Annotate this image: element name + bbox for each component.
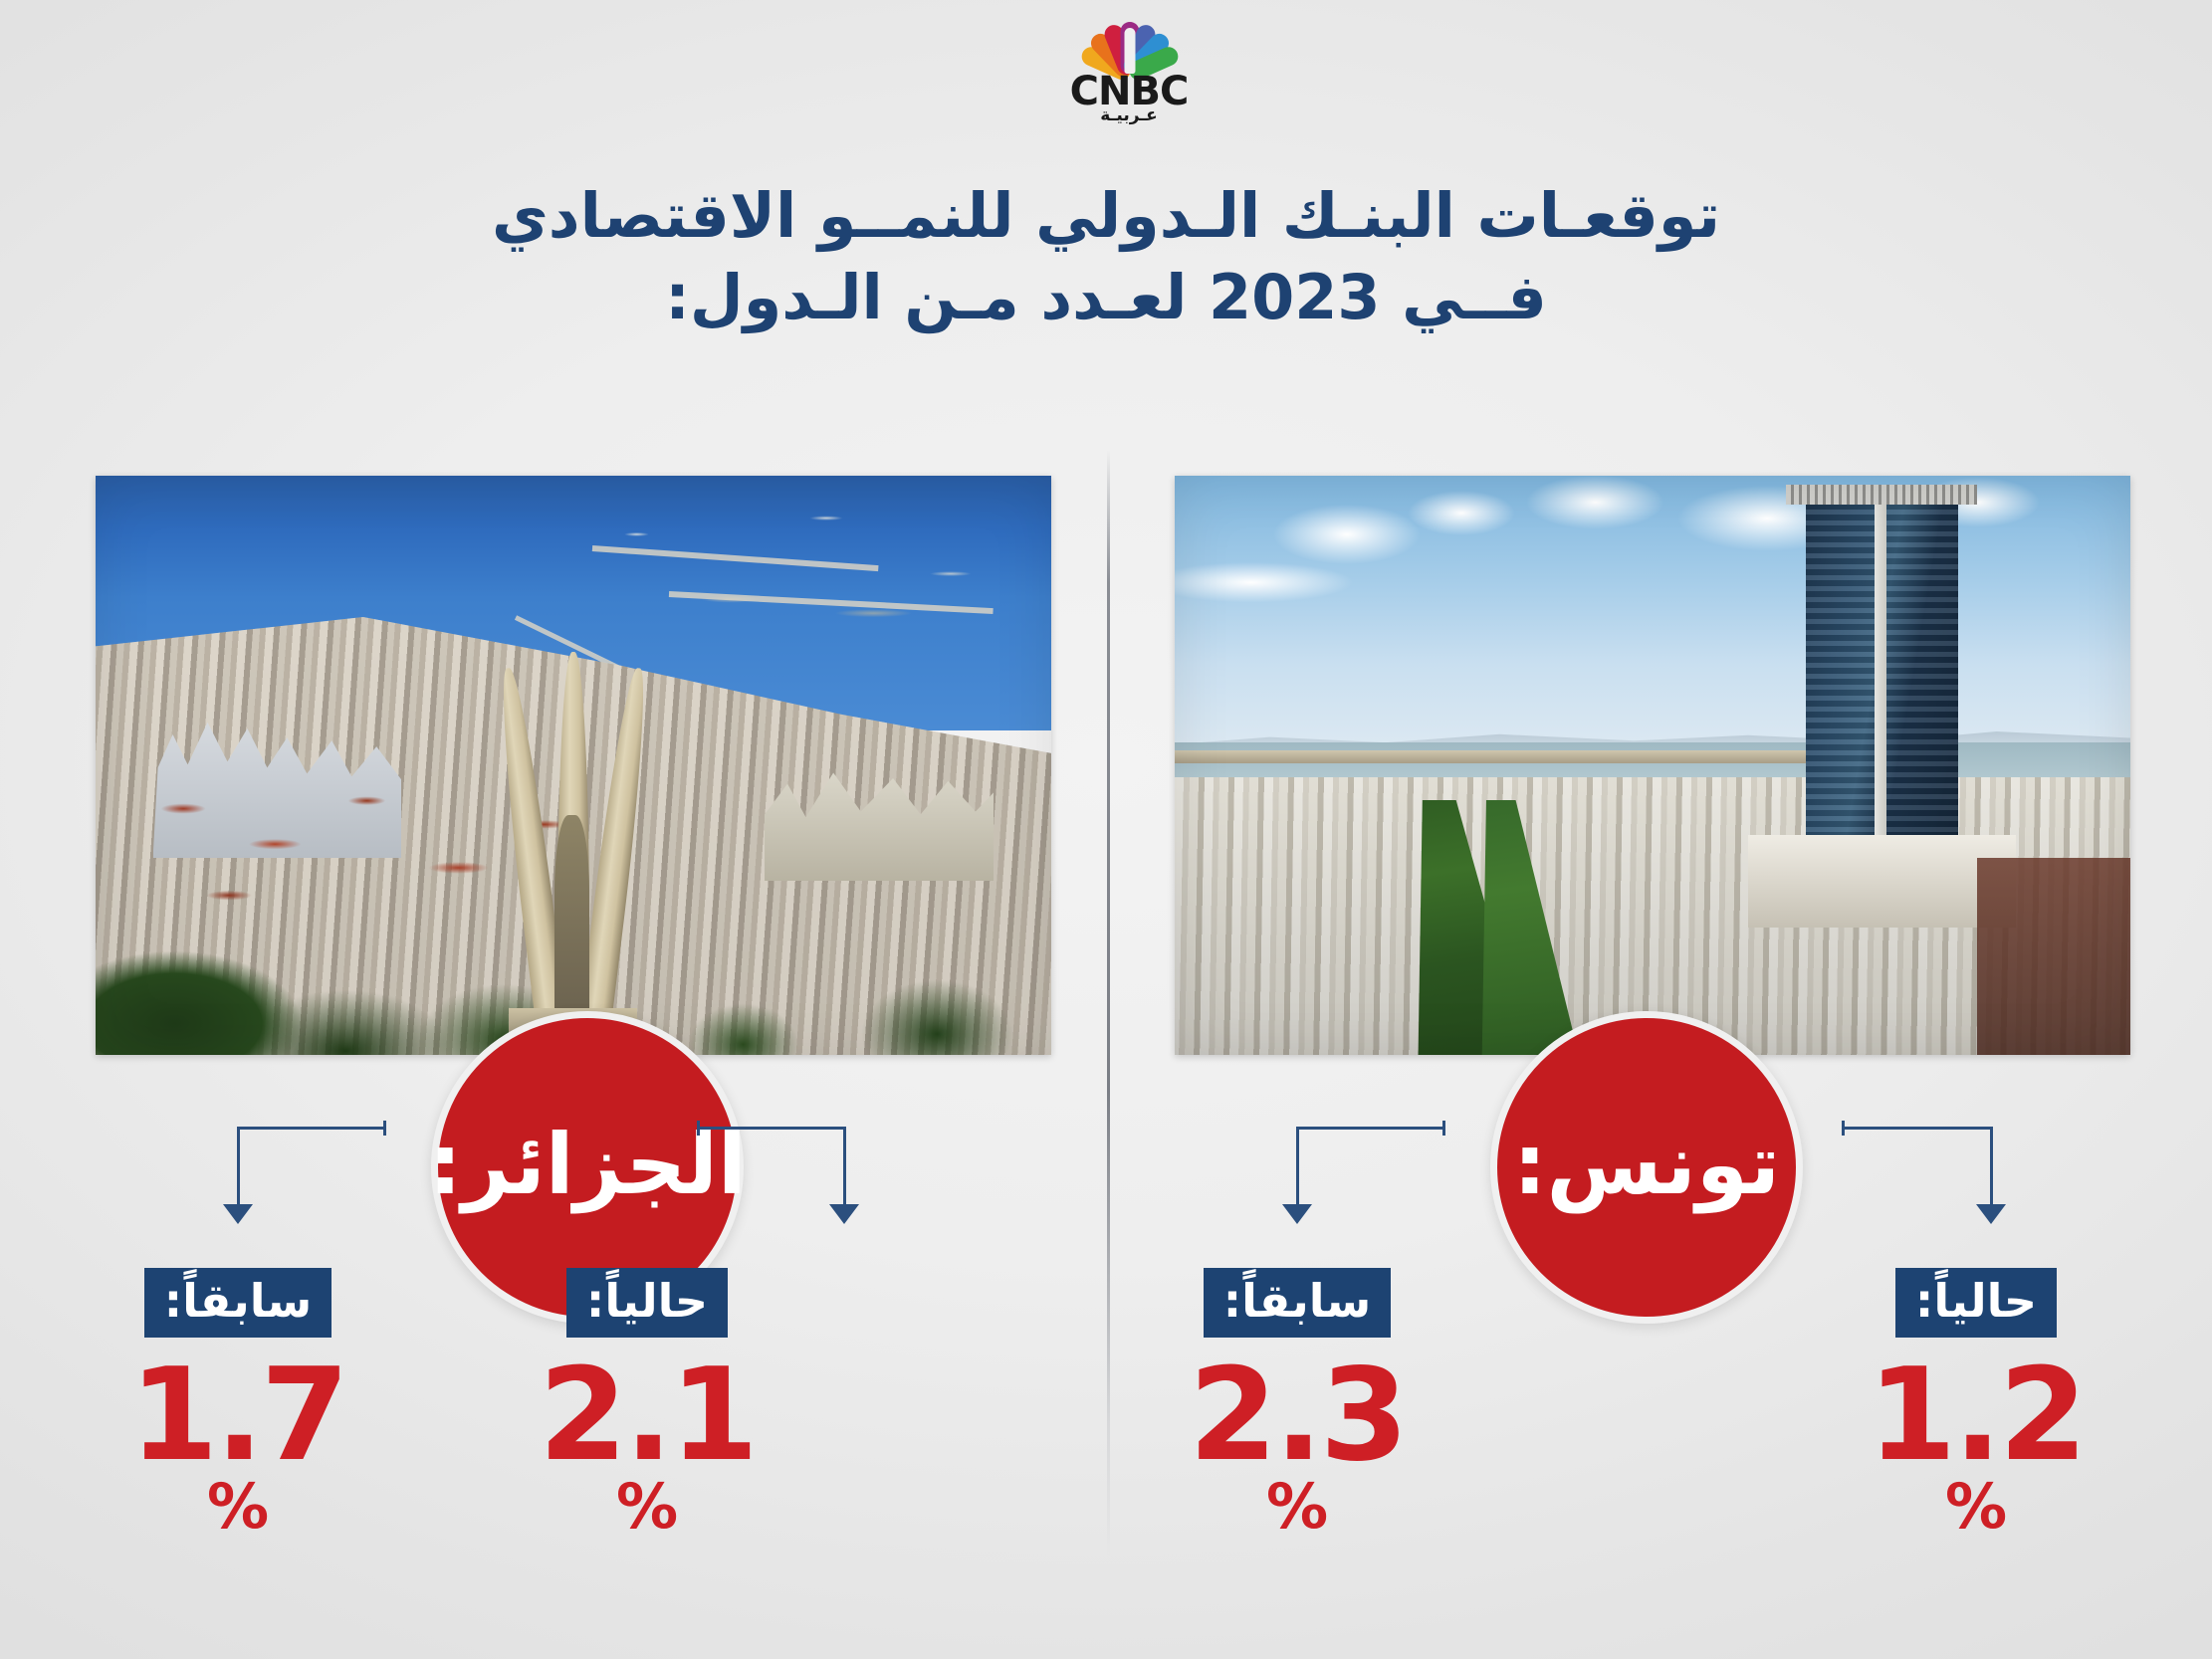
photo-tunisia bbox=[1175, 476, 2130, 1055]
cnbc-peacock-icon bbox=[1075, 14, 1185, 76]
metric-tunisia-previous: سابقاً: 2.3 % bbox=[1103, 1268, 1491, 1538]
title-line-2: فــي 2023 لعـدد مـن الـدول: bbox=[119, 257, 2093, 338]
metric-value-algeria-previous: 1.7 bbox=[44, 1351, 432, 1482]
cnbc-arabia-logo: CNBC عـربيـة bbox=[1039, 14, 1218, 121]
cnbc-arabic-wordmark: عـربيـة bbox=[1039, 105, 1218, 125]
metric-label-tunisia-current: حالياً: bbox=[1895, 1268, 2057, 1338]
photo-algeria bbox=[96, 476, 1051, 1055]
metric-label-algeria-previous: سابقاً: bbox=[144, 1268, 332, 1338]
connector-tunisia-current bbox=[1842, 1127, 1993, 1226]
metric-label-algeria-current: حالياً: bbox=[566, 1268, 728, 1338]
metric-algeria-previous: سابقاً: 1.7 % bbox=[44, 1268, 432, 1538]
metric-unit-tunisia-current: % bbox=[1782, 1476, 2170, 1538]
title-line-1: توقعـات البنـك الـدولي للنمــو الاقتصادي bbox=[119, 175, 2093, 257]
metric-value-tunisia-current: 1.2 bbox=[1782, 1351, 2170, 1482]
metric-value-tunisia-previous: 2.3 bbox=[1103, 1351, 1491, 1482]
metric-unit-algeria-current: % bbox=[453, 1476, 841, 1538]
metric-label-tunisia-previous: سابقاً: bbox=[1204, 1268, 1392, 1338]
metric-algeria-current: حالياً: 2.1 % bbox=[453, 1268, 841, 1538]
connector-tunisia-previous bbox=[1296, 1127, 1445, 1226]
country-label-tunisia: تونس: bbox=[1513, 1123, 1780, 1206]
metric-unit-tunisia-previous: % bbox=[1103, 1476, 1491, 1538]
metric-unit-algeria-previous: % bbox=[44, 1476, 432, 1538]
page-title: توقعـات البنـك الـدولي للنمــو الاقتصادي… bbox=[119, 175, 2093, 338]
infographic-canvas: CNBC عـربيـة توقعـات البنـك الـدولي للنم… bbox=[0, 0, 2212, 1659]
connector-algeria-current bbox=[697, 1127, 846, 1226]
metric-value-algeria-current: 2.1 bbox=[453, 1351, 841, 1482]
connector-algeria-previous bbox=[237, 1127, 386, 1226]
country-badge-tunisia: تونس: bbox=[1490, 1011, 1803, 1324]
metric-tunisia-current: حالياً: 1.2 % bbox=[1782, 1268, 2170, 1538]
